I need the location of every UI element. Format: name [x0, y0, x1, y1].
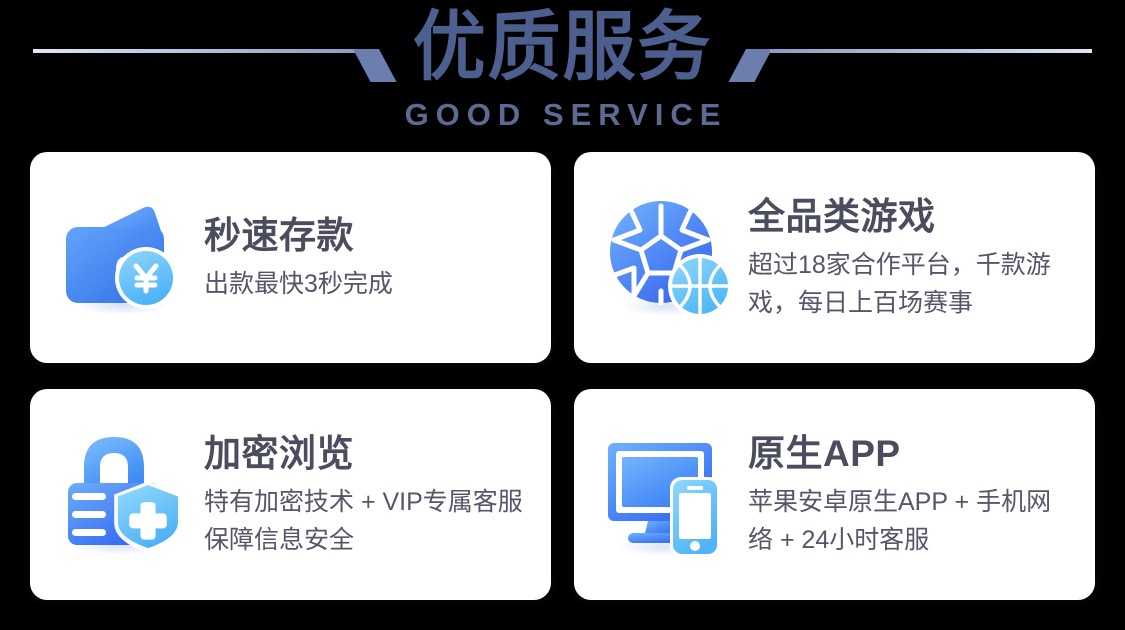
lock-shield-icon: [60, 429, 192, 561]
service-card-all-category-games[interactable]: 全品类游戏 超过18家合作平台，千款游戏，每日上百场赛事: [574, 152, 1095, 363]
card-title: 加密浏览: [204, 431, 531, 477]
service-card-native-app[interactable]: 原生APP 苹果安卓原生APP + 手机网络 + 24小时客服: [574, 389, 1095, 600]
page-title: 优质服务: [23, 4, 1103, 92]
card-title: 秒速存款: [204, 213, 531, 259]
card-description: 出款最快3秒完成: [204, 265, 531, 303]
soccer-basketball-icon: [604, 192, 736, 324]
card-description: 苹果安卓原生APP + 手机网络 + 24小时客服: [748, 483, 1075, 559]
card-text-block: 秒速存款 出款最快3秒完成: [204, 213, 531, 303]
service-card-instant-deposit[interactable]: 秒速存款 出款最快3秒完成: [30, 152, 551, 363]
monitor-phone-icon: [604, 429, 736, 561]
service-card-grid: 秒速存款 出款最快3秒完成: [30, 152, 1095, 600]
card-description: 特有加密技术 + VIP专属客服保障信息安全: [204, 483, 531, 559]
page-header: 优质服务 GOOD SERVICE: [0, 0, 1125, 148]
card-text-block: 原生APP 苹果安卓原生APP + 手机网络 + 24小时客服: [748, 431, 1075, 559]
card-title: 原生APP: [748, 431, 1075, 477]
card-text-block: 全品类游戏 超过18家合作平台，千款游戏，每日上百场赛事: [748, 194, 1075, 322]
card-text-block: 加密浏览 特有加密技术 + VIP专属客服保障信息安全: [204, 431, 531, 559]
card-title: 全品类游戏: [748, 194, 1075, 240]
card-description: 超过18家合作平台，千款游戏，每日上百场赛事: [748, 246, 1075, 322]
wallet-yuan-icon: [60, 192, 192, 324]
service-card-encrypted-browsing[interactable]: 加密浏览 特有加密技术 + VIP专属客服保障信息安全: [30, 389, 551, 600]
page-subtitle: GOOD SERVICE: [0, 98, 1125, 132]
